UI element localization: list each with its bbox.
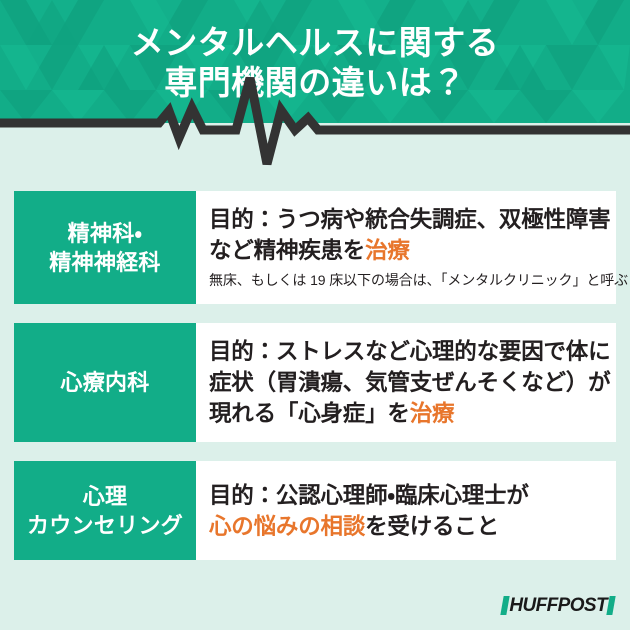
row-body: 目的：うつ病や統合失調症、双極性障害 など精神疾患を治療 無床、もしくは 19 … <box>196 191 630 304</box>
category-row-psychosomatic: 心療内科 目的：ストレスなど心理的な要因で体に 症状（胃潰瘍、気管支ぜんそくなど… <box>14 323 616 442</box>
body-line: 目的：公認心理師・臨床心理士が <box>209 480 606 511</box>
row-label-box: 心療内科 <box>14 323 196 442</box>
title-line-1: メンタルヘルスに関する <box>131 23 500 63</box>
body-text-highlight: 心の悩みの相談 <box>209 514 365 539</box>
row-label-line-2: 精神神経科 <box>49 248 161 277</box>
body-text-highlight: 治療 <box>410 401 455 426</box>
body-line: 心の悩みの相談を受けること <box>209 511 606 542</box>
category-row-counseling: 心理 カウンセリング 目的：公認心理師・臨床心理士が 心の悩みの相談を受けること <box>14 461 616 560</box>
logo-wordmark: HUFFPOST <box>508 596 608 615</box>
page-title: メンタルヘルスに関する 専門機関の違いは？ <box>0 0 630 123</box>
body-line: 目的：うつ病や統合失調症、双極性障害 <box>209 204 628 235</box>
row-label-line-2: カウンセリング <box>27 511 183 540</box>
body-text-plain: を受けること <box>365 514 499 539</box>
body-text-plain: 目的：公認心理師・臨床心理士が <box>209 483 529 508</box>
body-text-plain: 症状（胃潰瘍、気管支ぜんそくなど）が <box>209 370 610 395</box>
body-text-plain: など精神疾患を <box>209 238 365 263</box>
row-body: 目的：公認心理師・臨床心理士が 心の悩みの相談を受けること <box>196 461 616 560</box>
row-label-box: 心理 カウンセリング <box>14 461 196 560</box>
title-line-2: 専門機関の違いは？ <box>164 63 466 103</box>
row-note: 無床、もしくは 19 床以下の場合は、「メンタルクリニック」と呼ぶ <box>209 269 628 291</box>
body-text-highlight: 治療 <box>365 238 410 263</box>
infographic-root: メンタルヘルスに関する 専門機関の違いは？ 精神科・ 精神神経科 目的：うつ病や… <box>0 0 630 630</box>
body-line: 目的：ストレスなど心理的な要因で体に <box>209 336 610 367</box>
row-label-line-1: 精神科・ <box>68 219 143 248</box>
row-label-line-1: 心療内科 <box>60 368 149 397</box>
body-text-plain: 目的：うつ病や統合失調症、双極性障害 <box>209 207 610 232</box>
row-body: 目的：ストレスなど心理的な要因で体に 症状（胃潰瘍、気管支ぜんそくなど）が 現れ… <box>196 323 620 442</box>
body-line: など精神疾患を治療 <box>209 235 628 266</box>
huffpost-logo: HUFFPOST <box>502 594 614 616</box>
row-label-line-1: 心理 <box>83 482 128 511</box>
row-label-box: 精神科・ 精神神経科 <box>14 191 196 304</box>
category-row-psychiatry: 精神科・ 精神神経科 目的：うつ病や統合失調症、双極性障害 など精神疾患を治療 … <box>14 191 616 304</box>
body-text-plain: 目的：ストレスなど心理的な要因で体に <box>209 339 610 364</box>
body-text-plain: 現れる「心身症」を <box>209 401 410 426</box>
header-banner: メンタルヘルスに関する 専門機関の違いは？ <box>0 0 630 123</box>
body-line: 現れる「心身症」を治療 <box>209 398 610 429</box>
body-line: 症状（胃潰瘍、気管支ぜんそくなど）が <box>209 367 610 398</box>
